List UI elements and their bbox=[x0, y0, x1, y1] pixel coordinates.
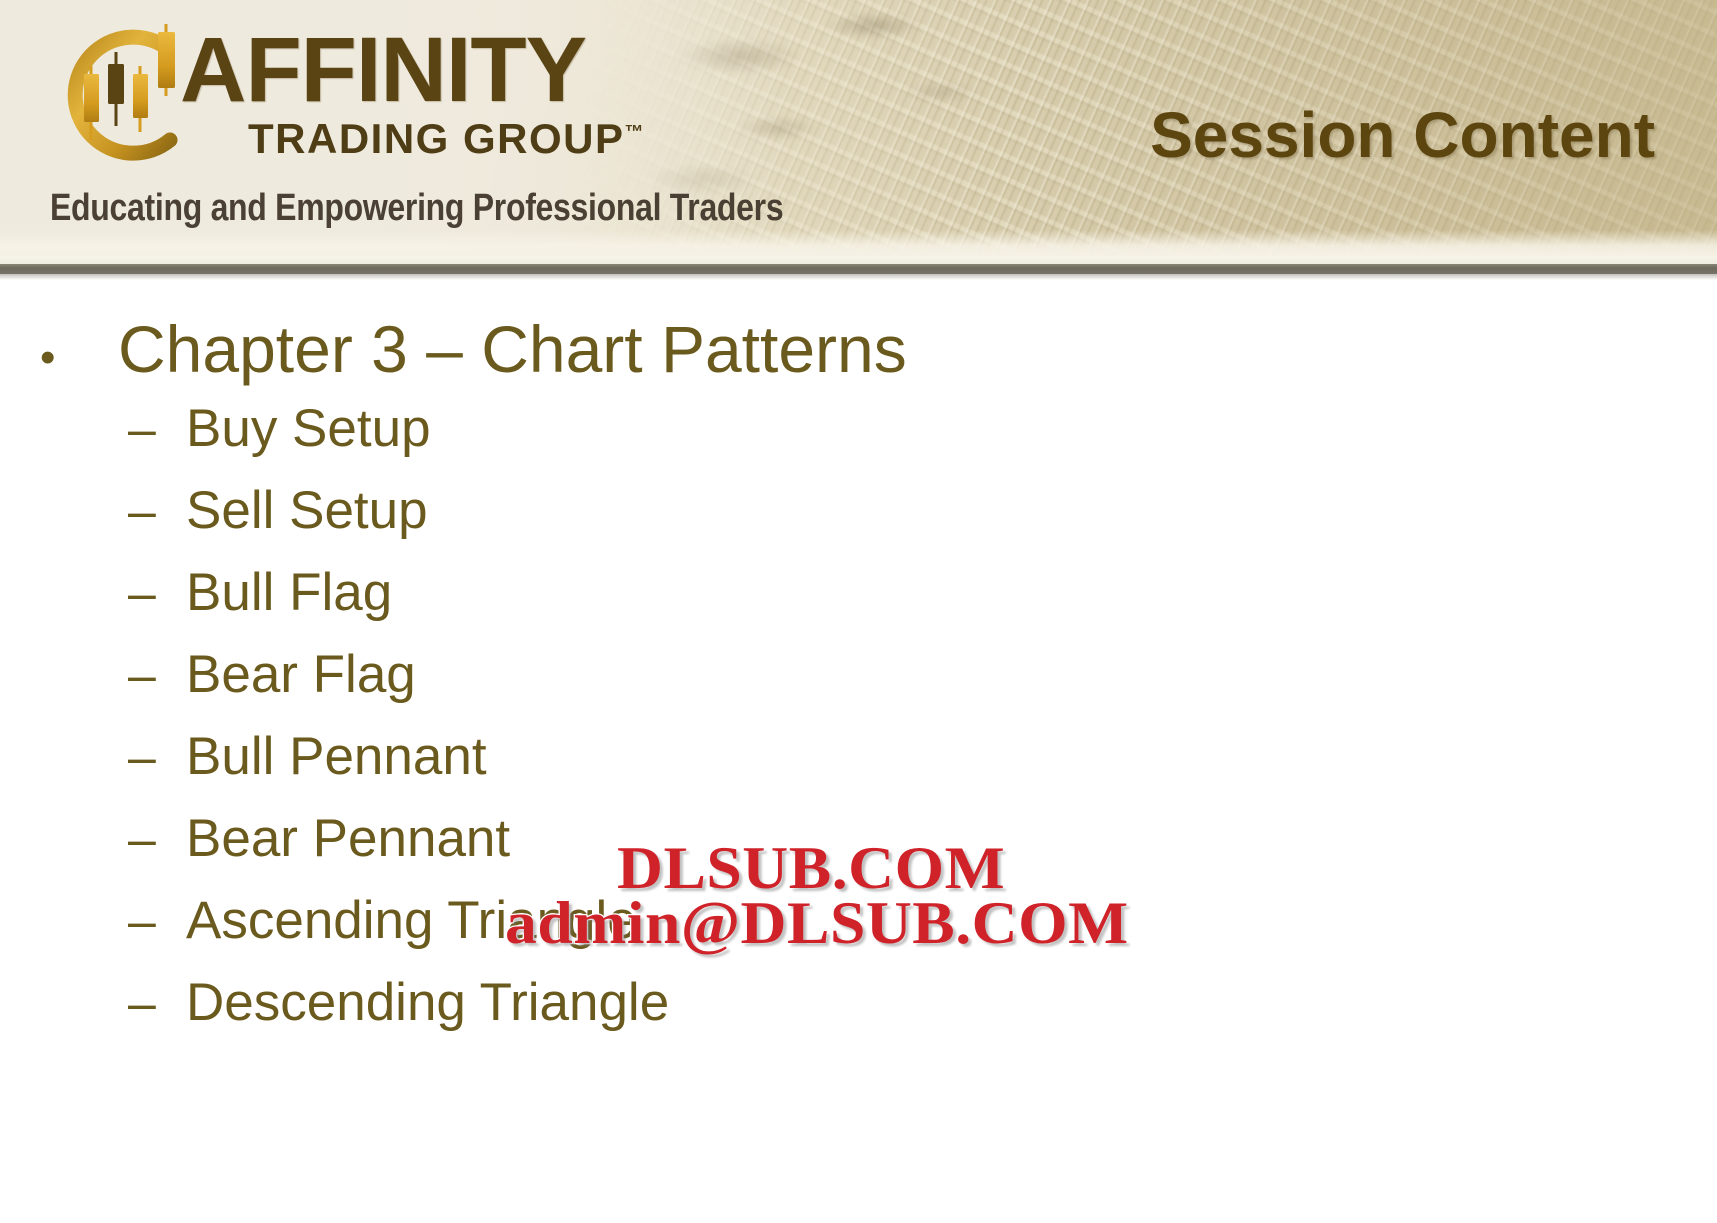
dash-marker-icon: – bbox=[128, 732, 186, 782]
logo-subtitle: TRADING GROUP™ bbox=[248, 118, 644, 160]
list-item-label: Ascending Triangle bbox=[186, 894, 637, 947]
bullet-marker-icon: • bbox=[40, 336, 118, 380]
list-item-descending-triangle: – Descending Triangle bbox=[128, 976, 1128, 1058]
list-item-sell-setup: – Sell Setup bbox=[128, 484, 1128, 566]
list-item-label: Buy Setup bbox=[186, 402, 431, 455]
list-item-bull-pennant: – Bull Pennant bbox=[128, 730, 1128, 812]
header-divider bbox=[0, 264, 1717, 274]
dash-marker-icon: – bbox=[128, 896, 186, 946]
list-item-buy-setup: – Buy Setup bbox=[128, 402, 1128, 484]
header-bottom-fade bbox=[0, 230, 1717, 256]
slide-body: • Chapter 3 – Chart Patterns – Buy Setup… bbox=[0, 290, 1717, 1190]
list-item-label: Bull Flag bbox=[186, 566, 392, 619]
list-item-ascending-triangle: – Ascending Triangle bbox=[128, 894, 1128, 976]
list-item-label: Descending Triangle bbox=[186, 976, 669, 1029]
list-item-bull-flag: – Bull Flag bbox=[128, 566, 1128, 648]
list-item-label: Sell Setup bbox=[186, 484, 428, 537]
bullet-label: Chapter 3 – Chart Patterns bbox=[118, 316, 907, 382]
dash-marker-icon: – bbox=[128, 568, 186, 618]
dash-marker-icon: – bbox=[128, 486, 186, 536]
logo-tagline: Educating and Empowering Professional Tr… bbox=[50, 186, 783, 230]
dash-marker-icon: – bbox=[128, 814, 186, 864]
slide: AFFINITY TRADING GROUP™ Educating and Em… bbox=[0, 0, 1717, 1223]
logo-wordmark: AFFINITY bbox=[180, 24, 586, 116]
list-item-bear-flag: – Bear Flag bbox=[128, 648, 1128, 730]
list-item-label: Bear Pennant bbox=[186, 812, 510, 865]
list-item-bear-pennant: – Bear Pennant bbox=[128, 812, 1128, 894]
slide-header: AFFINITY TRADING GROUP™ Educating and Em… bbox=[0, 0, 1717, 256]
chart-pattern-list: – Buy Setup – Sell Setup – Bull Flag – B… bbox=[128, 402, 1128, 1058]
trademark-icon: ™ bbox=[625, 122, 644, 143]
header-divider-highlight bbox=[0, 256, 1717, 264]
header-divider-shadow bbox=[0, 274, 1717, 280]
page-title: Session Content bbox=[1150, 98, 1655, 172]
dash-marker-icon: – bbox=[128, 650, 186, 700]
list-item-label: Bull Pennant bbox=[186, 730, 487, 783]
affinity-logo[interactable]: AFFINITY TRADING GROUP™ bbox=[52, 18, 672, 188]
logo-subtitle-text: TRADING GROUP bbox=[248, 115, 625, 162]
bullet-chapter-3: • Chapter 3 – Chart Patterns bbox=[40, 316, 907, 382]
list-item-label: Bear Flag bbox=[186, 648, 416, 701]
dash-marker-icon: – bbox=[128, 978, 186, 1028]
dash-marker-icon: – bbox=[128, 404, 186, 454]
